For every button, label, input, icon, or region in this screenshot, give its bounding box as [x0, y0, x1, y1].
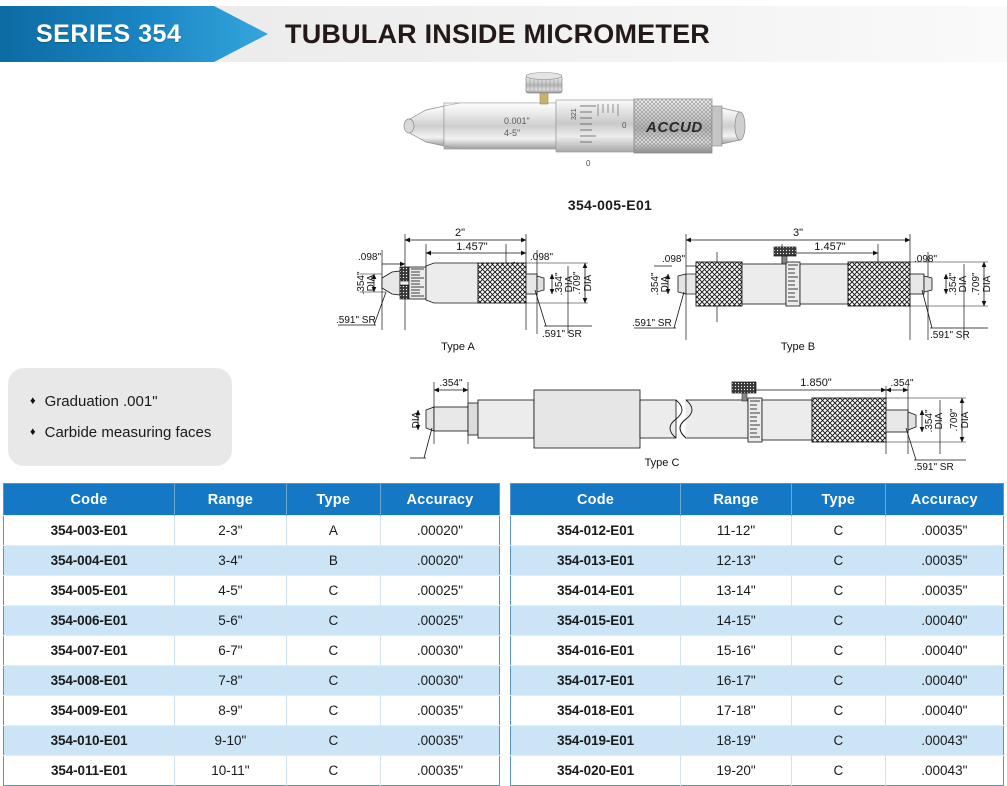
drawing-type-b: 3" 1.457" .098" .098" .354" DIA .354" DI… [632, 222, 1004, 362]
cell-type: C [792, 516, 886, 546]
dim-inner-a: 1.457" [456, 241, 488, 253]
drawing-caption-c: Type C [645, 457, 680, 469]
cell-accuracy: .00043" [885, 726, 1003, 756]
feature-item: ♦ Graduation .001" [30, 393, 232, 410]
cell-accuracy: .00030" [380, 666, 499, 696]
cell-accuracy: .00035" [380, 696, 499, 726]
cell-type: C [286, 636, 380, 666]
series-label: SERIES 354 [36, 6, 181, 62]
dim-overall-a: 2" [455, 227, 465, 239]
cell-code: 354-019-E01 [511, 726, 681, 756]
dim-sr-left-b: .591" SR [632, 318, 672, 329]
cell-range: 3-4" [175, 546, 287, 576]
features-box: ♦ Graduation .001" ♦ Carbide measuring f… [8, 368, 232, 466]
cell-range: 11-12" [681, 516, 792, 546]
cell-accuracy: .00025" [380, 606, 499, 636]
table-row: 354-003-E012-3"A.00020" [4, 516, 500, 546]
cell-range: 8-9" [175, 696, 287, 726]
cell-range: 16-17" [681, 666, 792, 696]
table-body-right: 354-012-E0111-12"C.00035"354-013-E0112-1… [511, 516, 1004, 786]
product-code-caption: 354-005-E01 [400, 197, 820, 213]
table-row: 354-013-E0112-13"C.00035" [511, 546, 1004, 576]
cell-code: 354-020-E01 [511, 756, 681, 786]
cell-accuracy: .00040" [885, 696, 1003, 726]
cell-accuracy: .00035" [380, 756, 499, 786]
cell-range: 9-10" [175, 726, 287, 756]
dim-inner-b: 1.457" [814, 241, 846, 253]
svg-text:DIA: DIA [960, 411, 971, 428]
table-row: 354-010-E019-10"C.00035" [4, 726, 500, 756]
cell-type: C [792, 576, 886, 606]
dim-left-step-c: .354" [439, 378, 462, 389]
table-row: 354-020-E0119-20"C.00043" [511, 756, 1004, 786]
col-header-range: Range [681, 484, 792, 516]
table-row: 354-007-E016-7"C.00030" [4, 636, 500, 666]
cell-range: 10-11" [175, 756, 287, 786]
cell-type: C [792, 606, 886, 636]
spec-table-left: Code Range Type Accuracy 354-003-E012-3"… [3, 483, 500, 786]
cell-accuracy: .00035" [885, 576, 1003, 606]
cell-range: 4-5" [175, 576, 287, 606]
drawing-type-a: 2" 1.457" .098" .098" .354" DIA .354" DI… [330, 222, 595, 362]
cell-type: C [792, 636, 886, 666]
cell-range: 19-20" [681, 756, 792, 786]
cell-code: 354-016-E01 [511, 636, 681, 666]
dim-left-edge-b: .098" [662, 254, 685, 265]
table-row: 354-018-E0117-18"C.00040" [511, 696, 1004, 726]
drawing-caption-b: Type B [781, 341, 815, 353]
svg-text:DIA: DIA [583, 274, 594, 291]
svg-text:DIA: DIA [411, 411, 422, 428]
cell-range: 14-15" [681, 606, 792, 636]
spec-table-right: Code Range Type Accuracy 354-012-E0111-1… [510, 483, 1004, 786]
diamond-bullet-icon: ♦ [30, 396, 36, 407]
cell-type: C [792, 546, 886, 576]
drawing-caption-a: Type A [441, 341, 475, 353]
cell-accuracy: .00040" [885, 636, 1003, 666]
table-row: 354-012-E0111-12"C.00035" [511, 516, 1004, 546]
cell-type: C [286, 726, 380, 756]
cell-accuracy: .00040" [885, 666, 1003, 696]
cell-code: 354-004-E01 [4, 546, 175, 576]
cell-type: A [286, 516, 380, 546]
table-header-row: Code Range Type Accuracy [511, 484, 1004, 516]
col-header-code: Code [511, 484, 681, 516]
cell-type: B [286, 546, 380, 576]
cell-code: 354-017-E01 [511, 666, 681, 696]
cell-type: C [792, 756, 886, 786]
cell-type: C [286, 576, 380, 606]
col-header-type: Type [286, 484, 380, 516]
table-row: 354-017-E0116-17"C.00040" [511, 666, 1004, 696]
svg-text:DIA: DIA [660, 275, 671, 292]
cell-accuracy: .00020" [380, 516, 499, 546]
cell-code: 354-011-E01 [4, 756, 175, 786]
cell-accuracy: .00035" [885, 546, 1003, 576]
cell-code: 354-007-E01 [4, 636, 175, 666]
table-row: 354-005-E014-5"C.00025" [4, 576, 500, 606]
cell-accuracy: .00025" [380, 576, 499, 606]
diamond-bullet-icon: ♦ [30, 427, 36, 438]
table-row: 354-006-E015-6"C.00025" [4, 606, 500, 636]
table-row: 354-011-E0110-11"C.00035" [4, 756, 500, 786]
cell-code: 354-018-E01 [511, 696, 681, 726]
dim-sr-right-a: .591" SR [542, 329, 582, 340]
cell-code: 354-015-E01 [511, 606, 681, 636]
cell-accuracy: .00040" [885, 606, 1003, 636]
cell-range: 7-8" [175, 666, 287, 696]
cell-type: C [792, 726, 886, 756]
cell-code: 354-014-E01 [511, 576, 681, 606]
table-row: 354-009-E018-9"C.00035" [4, 696, 500, 726]
cell-range: 18-19" [681, 726, 792, 756]
cell-code: 354-013-E01 [511, 546, 681, 576]
cell-range: 6-7" [175, 636, 287, 666]
cell-accuracy: .00035" [885, 516, 1003, 546]
dim-right-edge-a: .098" [530, 252, 553, 263]
svg-text:0: 0 [586, 159, 591, 168]
table-row: 354-016-E0115-16"C.00040" [511, 636, 1004, 666]
cell-type: C [286, 606, 380, 636]
cell-type: C [286, 756, 380, 786]
cell-range: 12-13" [681, 546, 792, 576]
cell-accuracy: .00030" [380, 636, 499, 666]
drawing-type-c: .354" 1.850" .354" .354" DIA .354" DIA [410, 358, 1004, 480]
svg-text:321: 321 [571, 108, 578, 120]
col-header-code: Code [4, 484, 175, 516]
product-photo: 0.001" 4-5" 321 0 ACCUD 0 [400, 70, 820, 190]
cell-accuracy: .00020" [380, 546, 499, 576]
cell-code: 354-012-E01 [511, 516, 681, 546]
dim-sr-right-b: .591" SR [930, 330, 970, 341]
cell-type: C [792, 696, 886, 726]
cell-code: 354-008-E01 [4, 666, 175, 696]
table-row: 354-008-E017-8"C.00030" [4, 666, 500, 696]
cell-type: C [286, 696, 380, 726]
col-header-accuracy: Accuracy [885, 484, 1003, 516]
cell-range: 15-16" [681, 636, 792, 666]
cell-accuracy: .00035" [380, 726, 499, 756]
cell-range: 13-14" [681, 576, 792, 606]
svg-text:DIA: DIA [934, 412, 945, 429]
dim-right-step-c: .354" [890, 378, 913, 389]
svg-text:DIA: DIA [366, 274, 377, 291]
dim-dia-large-c: .709" [949, 408, 960, 431]
dim-right-edge-b: .098" [914, 254, 937, 265]
cell-range: 2-3" [175, 516, 287, 546]
svg-text:0.001": 0.001" [504, 116, 530, 126]
svg-text:0: 0 [622, 121, 627, 130]
table-row: 354-004-E013-4"B.00020" [4, 546, 500, 576]
dim-sr-right-c: .591" SR [914, 462, 954, 473]
svg-text:ACCUD: ACCUD [645, 119, 703, 136]
dim-sr-left-a: .591" SR [336, 315, 376, 326]
col-header-accuracy: Accuracy [380, 484, 499, 516]
cell-type: C [792, 666, 886, 696]
feature-label: Graduation .001" [45, 393, 158, 410]
svg-text:DIA: DIA [982, 275, 993, 292]
col-header-range: Range [175, 484, 287, 516]
cell-range: 5-6" [175, 606, 287, 636]
dim-dia-large-a: .709" [572, 271, 583, 294]
page-title: TUBULAR INSIDE MICROMETER [285, 6, 710, 62]
table-body-left: 354-003-E012-3"A.00020"354-004-E013-4"B.… [4, 516, 500, 786]
cell-code: 354-003-E01 [4, 516, 175, 546]
feature-item: ♦ Carbide measuring faces [30, 424, 232, 441]
dim-right-span-c: 1.850" [800, 377, 832, 389]
cell-range: 17-18" [681, 696, 792, 726]
cell-code: 354-010-E01 [4, 726, 175, 756]
feature-label: Carbide measuring faces [45, 424, 212, 441]
col-header-type: Type [792, 484, 886, 516]
table-row: 354-014-E0113-14"C.00035" [511, 576, 1004, 606]
dim-dia-large-b: .709" [971, 272, 982, 295]
table-row: 354-015-E0114-15"C.00040" [511, 606, 1004, 636]
cell-code: 354-005-E01 [4, 576, 175, 606]
svg-text:4-5": 4-5" [504, 128, 520, 138]
dim-left-edge-a: .098" [358, 252, 381, 263]
cell-code: 354-006-E01 [4, 606, 175, 636]
cell-code: 354-009-E01 [4, 696, 175, 726]
cell-accuracy: .00043" [885, 756, 1003, 786]
table-row: 354-019-E0118-19"C.00043" [511, 726, 1004, 756]
dim-overall-b: 3" [793, 227, 803, 239]
cell-type: C [286, 666, 380, 696]
table-header-row: Code Range Type Accuracy [4, 484, 500, 516]
svg-text:DIA: DIA [958, 275, 969, 292]
